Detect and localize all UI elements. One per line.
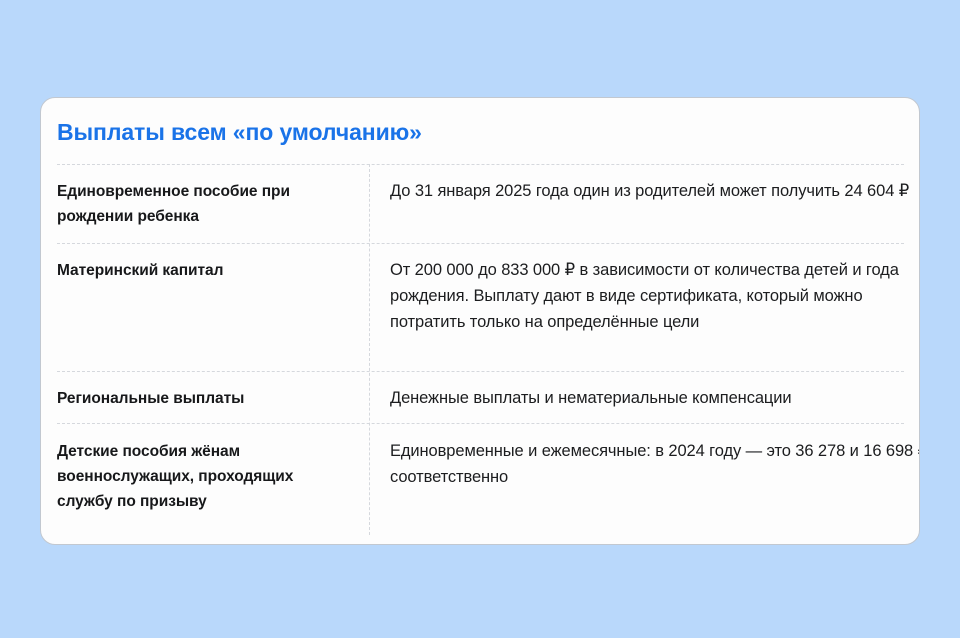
row-value-lump-sum-birth-allowance: До 31 января 2025 года один из родителей… [390,178,920,204]
row-label-maternity-capital: Материнский капитал [57,258,353,283]
row-value-maternity-capital: От 200 000 до 833 000 ₽ в зависимости от… [390,257,920,335]
row-value-conscript-wives-benefits: Единовременные и ежемесячные: в 2024 год… [390,438,920,490]
row-label-regional-payments: Региональные выплаты [57,386,353,411]
divider-row-3-4 [57,423,904,424]
divider-row-2-3 [57,371,904,372]
row-label-lump-sum-birth-allowance: Единовременное пособие при рождении ребе… [57,179,353,229]
payments-card: Выплаты всем «по умолчанию» Единовременн… [40,97,920,545]
divider-columns [369,164,370,535]
divider-row-1-2 [57,243,904,244]
row-label-conscript-wives-benefits: Детские пособия жёнам военнослужащих, пр… [57,439,353,514]
divider-top [57,164,904,165]
card-content: Выплаты всем «по умолчанию» Единовременн… [57,98,904,544]
page-title: Выплаты всем «по умолчанию» [57,119,422,146]
page-root: Выплаты всем «по умолчанию» Единовременн… [0,0,960,638]
row-value-regional-payments: Денежные выплаты и нематериальные компен… [390,385,920,411]
